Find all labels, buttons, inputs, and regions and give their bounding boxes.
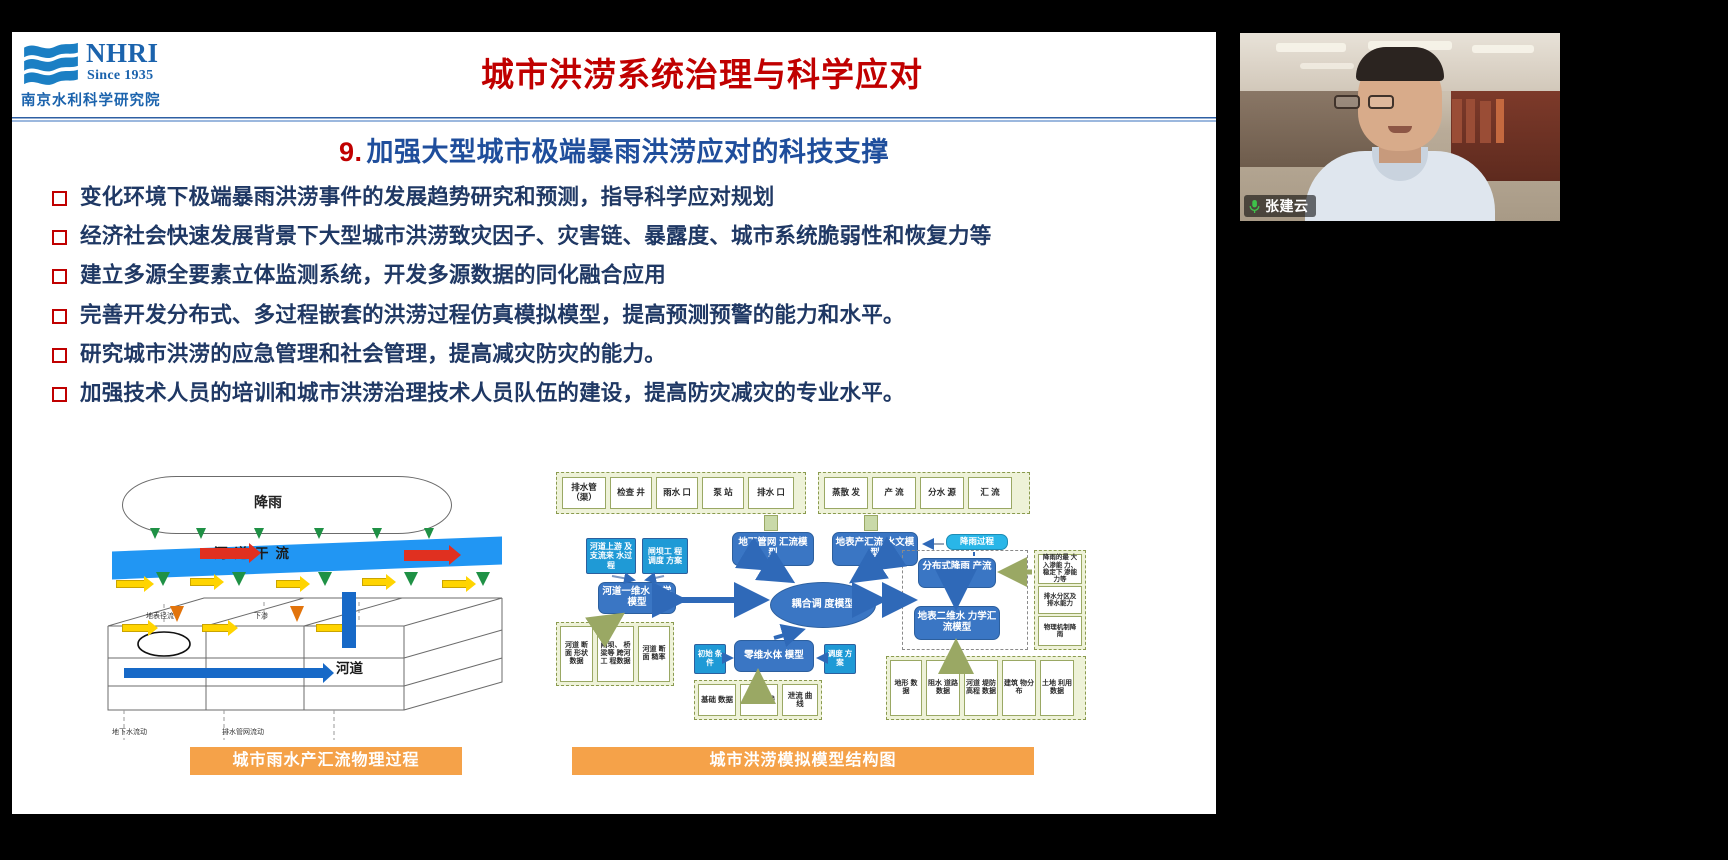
nhri-logo: NHRI Since 1935 南京水利科学研究院 (20, 36, 196, 114)
gbox-outlet: 排水 口 (748, 477, 794, 509)
square-bullet-icon (52, 309, 67, 324)
slide-subtitle: 9.加强大型城市极端暴雨洪涝应对的科技支撑 (12, 130, 1216, 169)
rain-arrow-icon (314, 528, 324, 539)
gbox-runoff-generation: 产 流 (872, 477, 916, 509)
gbox-discharge-curve: 泄流 曲线 (782, 684, 818, 716)
input-initial-condition: 初始 条件 (694, 644, 726, 674)
square-bullet-icon (52, 230, 67, 245)
svg-text:下渗: 下渗 (254, 611, 268, 620)
participant-person (1290, 35, 1510, 221)
subtitle-text: 加强大型城市极端暴雨洪涝应对的科技支撑 (367, 137, 890, 167)
participant-video-tile[interactable]: 张建云 (1240, 33, 1560, 221)
infiltration-arrow-icon (156, 572, 170, 586)
bullet-text: 研究城市洪涝的应急管理和社会管理，提高减灾防灾的能力。 (80, 341, 666, 367)
list-item: 加强技术人员的培训和城市洪涝治理技术人员队伍的建设，提高防灾减灾的专业水平。 (52, 380, 1216, 406)
lateral-arrow-icon (202, 624, 230, 632)
model-zero-d-water-body: 零维水体 模型 (734, 640, 814, 672)
participant-name: 张建云 (1265, 196, 1309, 216)
gbox-terrain-data: 地形 数据 (890, 660, 922, 716)
overland-arrow-icon (362, 578, 388, 586)
gbox-physical-rainfall: 物理机制降 雨 (1038, 616, 1082, 646)
gbox-manhole: 检查 井 (610, 477, 652, 509)
model-distributed-rainfall-runoff: 分布式降雨 产流模型 (918, 558, 996, 588)
shared-slide: NHRI Since 1935 南京水利科学研究院 城市洪涝系统治理与科学应对 … (12, 32, 1216, 814)
list-item: 建立多源全要素立体监测系统，开发多源数据的同化融合应用 (52, 262, 1216, 288)
list-item: 经济社会快速发展背景下大型城市洪涝致灾因子、灾害链、暴露度、城市系统脆弱性和恢复… (52, 223, 1216, 249)
gbox-pump-station: 泵 站 (702, 477, 744, 509)
model-river-1d-hydraulic: 河道一维水 力学模型 (598, 582, 676, 614)
gbox-evapotranspiration: 蒸散 发 (824, 477, 868, 509)
model-coupled-dispatch: 耦合调 度模型 (770, 582, 876, 628)
rain-arrow-icon (254, 528, 264, 539)
down-arrow-icon (864, 515, 878, 531)
rain-arrow-icon (150, 528, 160, 539)
bullet-text: 加强技术人员的培训和城市洪涝治理技术人员队伍的建设，提高防灾减灾的专业水平。 (80, 380, 905, 406)
square-bullet-icon (52, 269, 67, 284)
svg-text:地下水流动: 地下水流动 (112, 727, 147, 736)
model-underground-pipe-network: 地下管网 汇流模型 (732, 532, 814, 566)
slide-header: NHRI Since 1935 南京水利科学研究院 城市洪涝系统治理与科学应对 (12, 32, 1216, 116)
gbox-channel-roughness: 河道 断面 糙率 (638, 626, 670, 682)
lateral-arrow-icon (122, 624, 150, 632)
logo-acronym: NHRI (86, 38, 159, 69)
list-item: 变化环境下极端暴雨洪涝事件的发展趋势研究和预测，指导科学应对规划 (52, 184, 1216, 210)
gbox-concentration: 汇 流 (968, 477, 1012, 509)
overland-arrow-icon (276, 580, 302, 588)
figure-caption-left: 城市雨水产汇流物理过程 (190, 747, 462, 775)
microphone-icon (1248, 199, 1261, 214)
rain-arrow-icon (424, 528, 434, 539)
hair (1356, 47, 1444, 81)
bullet-list: 变化环境下极端暴雨洪涝事件的发展趋势研究和预测，指导科学应对规划 经济社会快速发… (52, 184, 1216, 419)
screen: NHRI Since 1935 南京水利科学研究院 城市洪涝系统治理与科学应对 … (0, 0, 1728, 860)
glasses-right-icon (1368, 95, 1394, 109)
gbox-levee-elevation-data: 河道 堤防 高程 数据 (964, 660, 998, 716)
flow-arrow-icon (404, 550, 450, 561)
input-gate-dam-scheme: 闸坝工 程调度 方案 (642, 538, 688, 574)
bullet-text: 经济社会快速发展背景下大型城市洪涝致灾因子、灾害链、暴露度、城市系统脆弱性和恢复… (80, 223, 991, 249)
rain-arrow-icon (196, 528, 206, 539)
wave-logo-icon (22, 40, 80, 88)
gbox-drain-pipe: 排水管 （渠） (562, 477, 606, 509)
square-bullet-icon (52, 387, 67, 402)
gbox-base-data: 基础 数据 (698, 684, 736, 716)
sewer-arrow-icon (290, 606, 304, 622)
gbox-infiltration-capacity: 降雨的最 大入渗能 力、稳定下 渗能力等 (1038, 554, 1082, 584)
bullet-text: 变化环境下极端暴雨洪涝事件的发展趋势研究和预测，指导科学应对规划 (80, 184, 774, 210)
gbox-inlet: 雨水 口 (656, 477, 698, 509)
groundwater-arrow-icon (124, 668, 324, 678)
gbox-land-use-data: 土地 利用 数据 (1040, 660, 1074, 716)
pipe-vertical-icon (342, 592, 356, 648)
subtitle-number: 9. (339, 137, 363, 167)
gbox-cross-river-structures: 闸坝、 桥梁等 跨河工 程数据 (597, 626, 634, 682)
bullet-text: 完善开发分布式、多过程嵌套的洪涝过程仿真模拟模型，提高预测预警的能力和水平。 (80, 302, 905, 328)
model-surface-2d-hydraulic: 地表二维水 力学汇流模型 (914, 606, 1000, 640)
overland-arrow-icon (190, 578, 216, 586)
input-upstream-inflow: 河道上游 及支流来 水过程 (586, 538, 636, 574)
header-divider (12, 117, 1216, 122)
gbox-source-split: 分水 源 (920, 477, 964, 509)
gbox-cross-section-shape: 河道 断面 形状 数据 (560, 626, 593, 682)
bullet-text: 建立多源全要素立体监测系统，开发多源数据的同化融合应用 (80, 262, 666, 288)
rain-arrow-icon (372, 528, 382, 539)
gbox-blocking-road-data: 阻水 道路 数据 (926, 660, 960, 716)
infiltration-arrow-icon (476, 572, 490, 586)
list-item: 完善开发分布式、多过程嵌套的洪涝过程仿真模拟模型，提高预测预警的能力和水平。 (52, 302, 1216, 328)
infiltration-arrow-icon (232, 572, 246, 586)
glasses-left-icon (1334, 95, 1360, 109)
overland-arrow-icon (116, 580, 146, 588)
mouth (1388, 126, 1412, 133)
square-bullet-icon (52, 191, 67, 206)
logo-since: Since 1935 (87, 68, 153, 84)
lateral-arrow-icon (316, 624, 344, 632)
figure-area: 降雨 河道干流 (12, 462, 1216, 814)
flow-arrow-icon (200, 548, 250, 559)
infiltration-arrow-icon (404, 572, 418, 586)
gbox-storage-curve: 库容 曲线 (740, 684, 778, 716)
down-arrow-icon (764, 515, 778, 531)
cloud-shape-icon (122, 476, 452, 534)
figure-rainfall-runoff: 降雨 河道干流 (104, 472, 524, 752)
list-item: 研究城市洪涝的应急管理和社会管理，提高减灾防灾的能力。 (52, 341, 1216, 367)
gbox-drainage-zone-capacity: 排水分区及 排水能力 (1038, 586, 1082, 614)
figure-caption-right: 城市洪涝模拟模型结构图 (572, 747, 1034, 775)
participant-name-tag: 张建云 (1244, 195, 1316, 217)
page-title: 城市洪涝系统治理与科学应对 (202, 48, 1202, 96)
channel-label: 河道 (336, 657, 363, 677)
svg-text:排水管网流动: 排水管网流动 (222, 727, 264, 736)
square-bullet-icon (52, 348, 67, 363)
figure-flood-model-structure: 排水管 （渠） 检查 井 雨水 口 泵 站 排水 口 蒸散 发 产 流 分水 源… (542, 472, 1087, 752)
logo-institute-cn: 南京水利科学研究院 (21, 89, 161, 110)
sewer-arrow-icon (170, 606, 184, 622)
gbox-building-distribution: 建筑 物分 布 (1002, 660, 1036, 716)
input-rainfall-process: 降雨过程 (946, 534, 1008, 550)
infiltration-arrow-icon (318, 572, 332, 586)
input-dispatch-scheme: 调度 方案 (824, 644, 856, 674)
rain-label: 降雨 (254, 492, 282, 512)
overland-arrow-icon (442, 580, 468, 588)
